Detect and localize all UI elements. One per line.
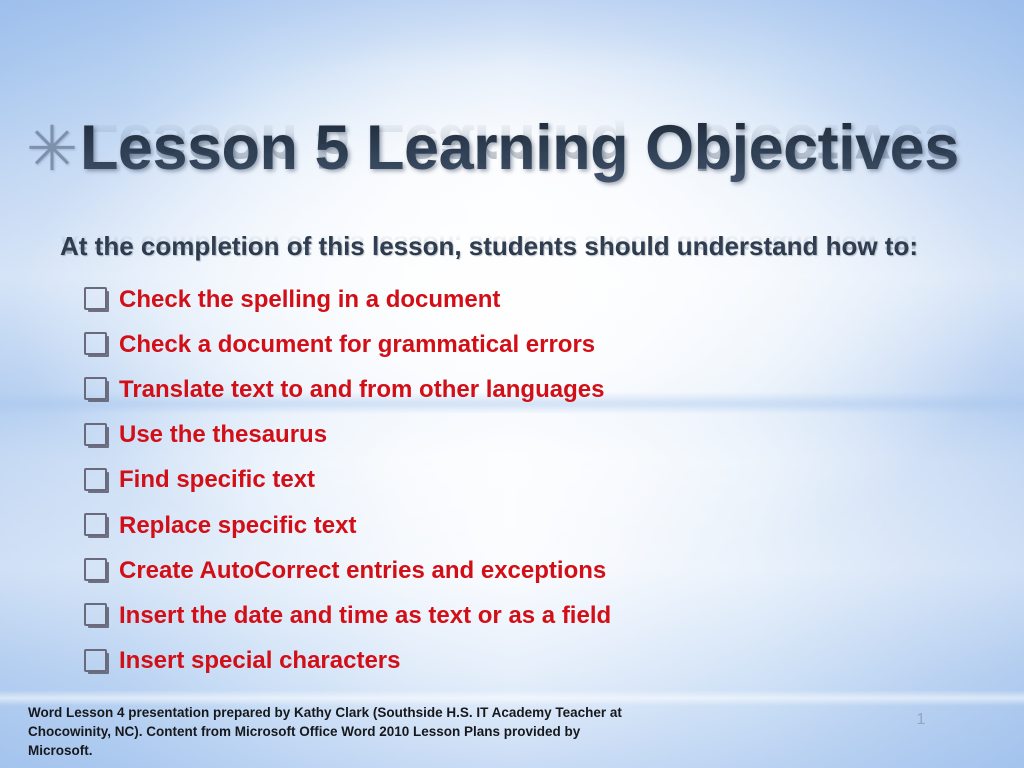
checkbox-square-icon xyxy=(84,513,107,536)
list-item: Check a document for grammatical errors xyxy=(84,322,964,367)
slide-subtitle: At the completion of this lesson, studen… xyxy=(60,231,918,261)
slide-number: 1 xyxy=(906,710,936,730)
list-item-label: Check the spelling in a document xyxy=(119,287,500,313)
objectives-list: Check the spelling in a document Check a… xyxy=(84,277,964,684)
list-item: Check the spelling in a document xyxy=(84,277,964,322)
list-item-label: Insert special characters xyxy=(119,648,401,674)
list-item: Insert special characters xyxy=(84,639,964,684)
asterisk-icon: ✳ xyxy=(26,118,78,180)
list-item: Replace specific text xyxy=(84,503,964,548)
list-item-label: Replace specific text xyxy=(119,513,356,539)
list-item-label: Check a document for grammatical errors xyxy=(119,332,595,358)
list-item: Translate text to and from other languag… xyxy=(84,367,964,412)
list-item: Insert the date and time as text or as a… xyxy=(84,593,964,638)
footer-credit-text: Word Lesson 4 presentation prepared by K… xyxy=(28,703,648,760)
page-title: Lesson 5 Learning Objectives xyxy=(80,113,959,183)
checkbox-square-icon xyxy=(84,423,107,446)
list-item: Find specific text xyxy=(84,458,964,503)
checkbox-square-icon xyxy=(84,332,107,355)
slide-title-row: ✳ Lesson 5 Learning Objectives Lesson 5 … xyxy=(26,112,1006,184)
checkbox-square-icon xyxy=(84,558,107,581)
slide-subtitle-stack: At the completion of this lesson, studen… xyxy=(60,231,918,261)
list-item-label: Translate text to and from other languag… xyxy=(119,377,604,403)
checkbox-square-icon xyxy=(84,468,107,491)
checkbox-square-icon xyxy=(84,649,107,672)
slide-title-stack: Lesson 5 Learning Objectives Lesson 5 Le… xyxy=(80,112,959,184)
checkbox-square-icon xyxy=(84,287,107,310)
list-item-label: Use the thesaurus xyxy=(119,422,327,448)
checkbox-square-icon xyxy=(84,377,107,400)
list-item: Create AutoCorrect entries and exception… xyxy=(84,548,964,593)
checkbox-square-icon xyxy=(84,603,107,626)
list-item-label: Find specific text xyxy=(119,467,315,493)
list-item-label: Insert the date and time as text or as a… xyxy=(119,603,611,629)
list-item-label: Create AutoCorrect entries and exception… xyxy=(119,558,606,584)
presentation-slide: ✳ Lesson 5 Learning Objectives Lesson 5 … xyxy=(0,0,1024,768)
list-item: Use the thesaurus xyxy=(84,413,964,458)
